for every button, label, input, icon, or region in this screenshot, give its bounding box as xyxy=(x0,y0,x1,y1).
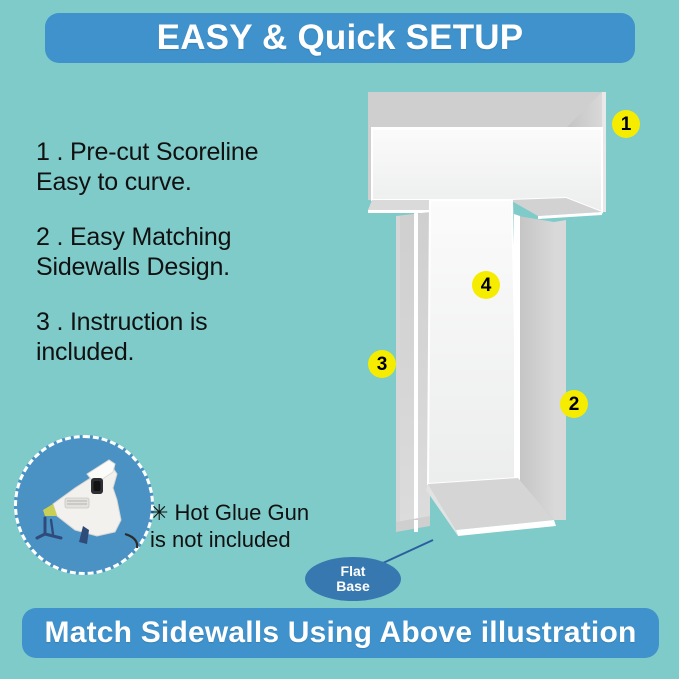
feature-item: 3 . Instruction is included. xyxy=(36,308,336,367)
callout-badge-3: 3 xyxy=(368,350,396,378)
infographic-canvas: EASY & Quick SETUP 1 . Pre-cut Scoreline… xyxy=(0,0,679,679)
flat-base-line1: Flat xyxy=(341,564,366,579)
flat-base-callout: Flat Base xyxy=(305,557,401,601)
letter-t-3d xyxy=(330,80,670,580)
feature-list: 1 . Pre-cut Scoreline Easy to curve. 2 .… xyxy=(36,138,336,393)
flat-base-line2: Base xyxy=(336,579,369,594)
callout-badge-1: 1 xyxy=(612,110,640,138)
letter-illustration xyxy=(330,80,670,580)
glue-gun-badge xyxy=(14,435,154,575)
bottom-banner: Match Sidewalls Using Above illustration xyxy=(22,608,659,658)
feature-item: 1 . Pre-cut Scoreline Easy to curve. xyxy=(36,138,336,197)
callout-badge-4: 4 xyxy=(472,271,500,299)
top-banner: EASY & Quick SETUP xyxy=(45,13,635,63)
glue-gun-icon xyxy=(17,438,157,578)
glue-gun-note: ✳ Hot Glue Gun is not included xyxy=(150,500,340,554)
feature-item: 2 . Easy Matching Sidewalls Design. xyxy=(36,223,336,282)
bottom-banner-text: Match Sidewalls Using Above illustration xyxy=(45,616,637,650)
callout-badge-2: 2 xyxy=(560,390,588,418)
top-banner-text: EASY & Quick SETUP xyxy=(157,18,524,58)
